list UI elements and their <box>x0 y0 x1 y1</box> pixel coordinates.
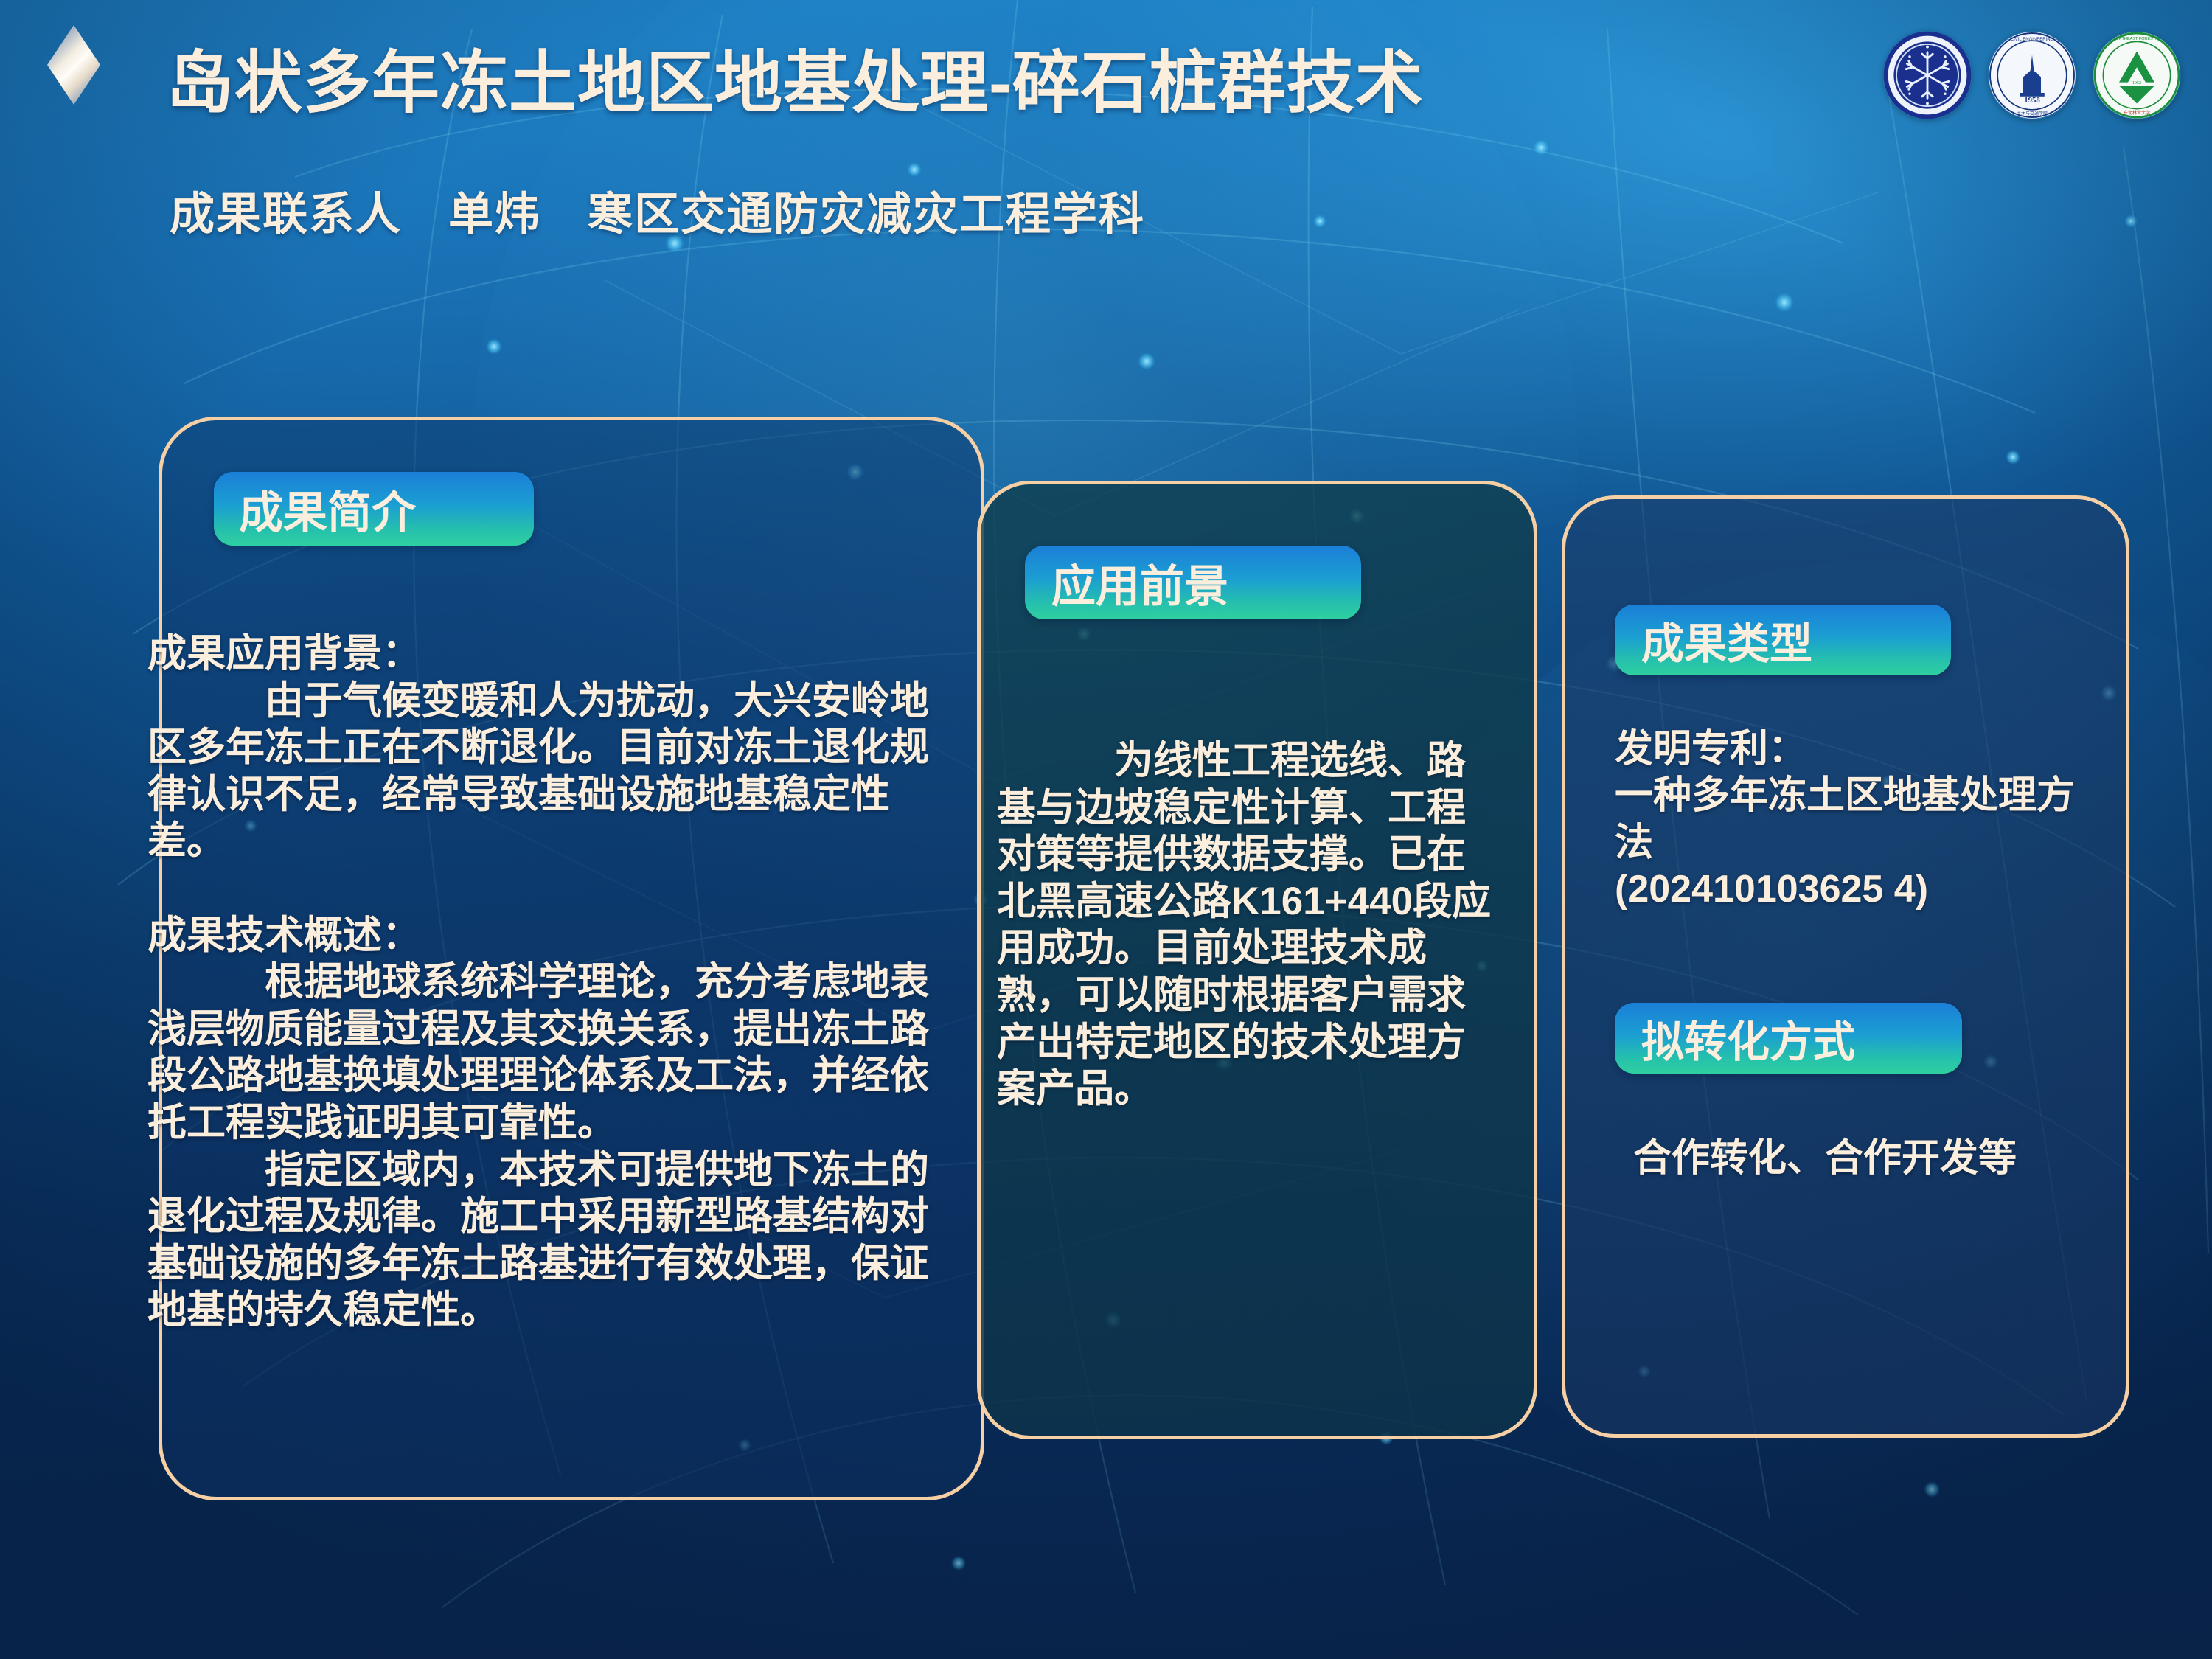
svg-text:1958: 1958 <box>2024 96 2040 105</box>
diamond-icon <box>32 24 115 106</box>
school-of-civil-engineering-and-transportation-logo: 1958 CIVIL ENGINEERING 土木与交通学院 <box>1988 31 2076 119</box>
pill-achievement-brief: 成果简介 <box>214 472 534 546</box>
pill-achievement-type: 成果类型 <box>1615 605 1951 675</box>
svg-text:东北林业大学: 东北林业大学 <box>2124 110 2150 116</box>
northeast-forestry-university-logo: 1952 NORTHEAST FORESTRY 东北林业大学 <box>2093 31 2181 119</box>
svg-text:CIVIL ENGINEERING: CIVIL ENGINEERING <box>2011 38 2054 42</box>
slide-root: 岛状多年冻土地区地基处理-碎石桩群技术 成果联系人 单炜 寒区交通防灾减灾工程学… <box>0 0 2212 1659</box>
svg-text:土木与交通学院: 土木与交通学院 <box>2017 111 2048 116</box>
pill-transfer-mode: 拟转化方式 <box>1615 1003 1962 1074</box>
achievement-brief-body: 成果应用背景： 由于气候变暖和人为扰动，大兴安岭地区多年冻土正在不断退化。目前对… <box>147 630 966 1334</box>
cold-region-science-institute-logo <box>1883 31 1972 119</box>
diamond-shape <box>47 25 100 105</box>
page-subtitle: 成果联系人 单炜 寒区交通防灾减灾工程学科 <box>170 177 1145 243</box>
achievement-type-body: 发明专利： 一种多年冻土区地基处理方法 (202410103625 4) <box>1615 726 2101 914</box>
application-prospect-body: 为线性工程选线、路基与边坡稳定性计算、工程对策等提供数据支撑。已在北黑高速公路K… <box>997 737 1498 1113</box>
svg-text:NORTHEAST FORESTRY: NORTHEAST FORESTRY <box>2112 37 2161 41</box>
pill-application-prospect: 应用前景 <box>1025 546 1361 619</box>
logo-group: 1958 CIVIL ENGINEERING 土木与交通学院 1952 NORT… <box>1883 31 2181 119</box>
transfer-mode-body: 合作转化、合作开发等 <box>1633 1135 2105 1182</box>
page-title: 岛状多年冻土地区地基处理-碎石桩群技术 <box>166 28 1424 126</box>
svg-text:1952: 1952 <box>2132 81 2141 86</box>
